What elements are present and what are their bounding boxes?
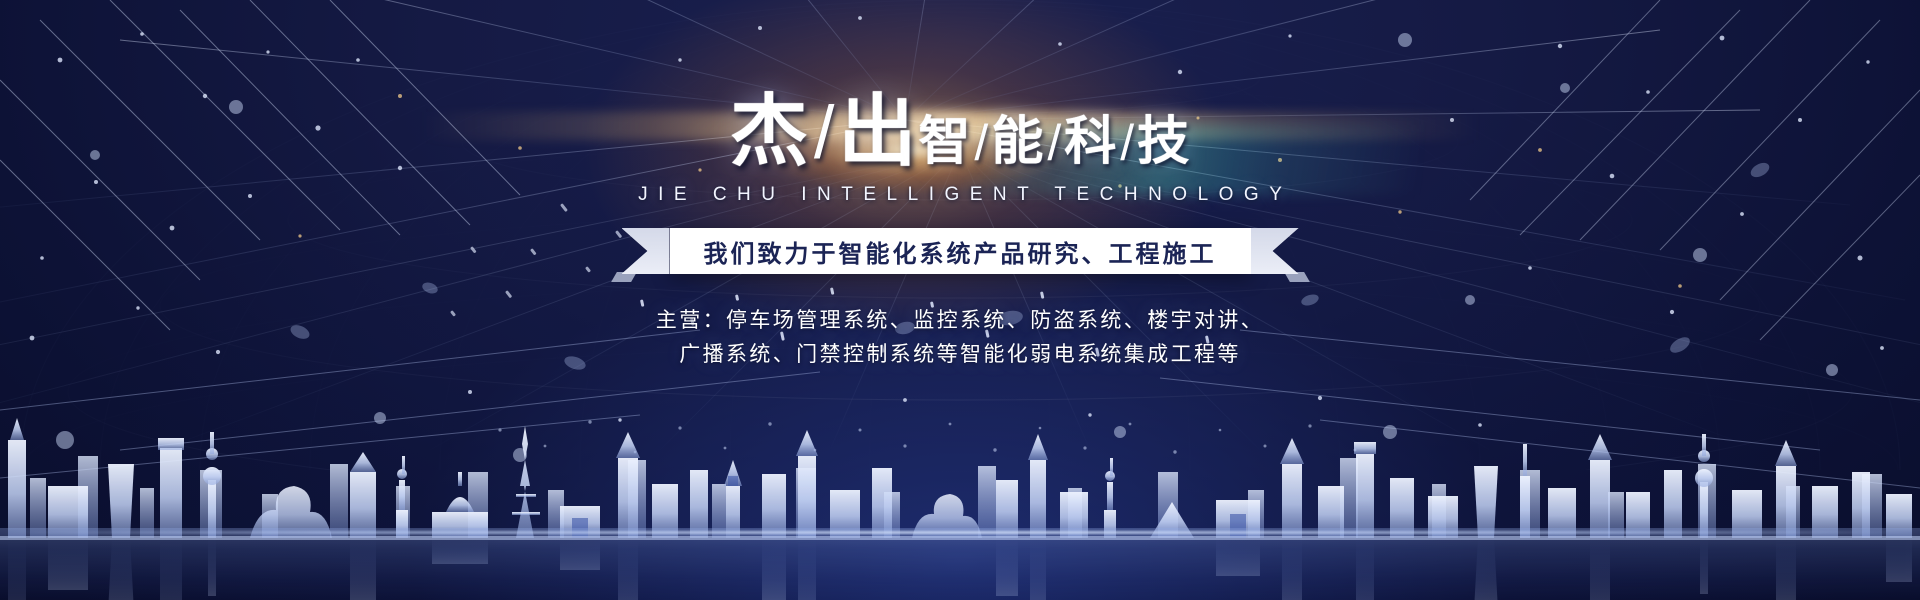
ribbon-tail-left	[622, 228, 670, 274]
title-slash-2: /	[974, 118, 988, 168]
hero-banner: 杰 / 出 智 / 能 / 科 / 技 JIE CHU INTELLIGENT …	[0, 0, 1920, 600]
slogan-ribbon: 我们致力于智能化系统产品研究、工程施工	[622, 228, 1299, 274]
description-line-1: 主营：停车场管理系统、监控系统、防盗系统、楼宇对讲、	[656, 304, 1264, 338]
title-char-jie: 杰	[730, 92, 810, 170]
title-char-ji: 技	[1137, 116, 1190, 168]
ribbon-text: 我们致力于智能化系统产品研究、工程施工	[704, 234, 1217, 269]
title-slash-1: /	[814, 96, 835, 170]
title-slash-4: /	[1120, 118, 1134, 168]
ribbon-tail-right	[1251, 228, 1299, 274]
title-char-chu: 出	[838, 92, 918, 170]
service-description: 主营：停车场管理系统、监控系统、防盗系统、楼宇对讲、 广播系统、门禁控制系统等智…	[656, 304, 1264, 372]
main-title: 杰 / 出 智 / 能 / 科 / 技	[730, 92, 1190, 170]
banner-content: 杰 / 出 智 / 能 / 科 / 技 JIE CHU INTELLIGENT …	[0, 0, 1920, 600]
english-subtitle: JIE CHU INTELLIGENT TECHNOLOGY	[628, 184, 1293, 206]
title-slash-3: /	[1047, 118, 1061, 168]
title-char-zhi: 智	[918, 116, 971, 168]
ribbon-body: 我们致力于智能化系统产品研究、工程施工	[670, 228, 1251, 274]
title-char-ke: 科	[1064, 116, 1117, 168]
description-line-2: 广播系统、门禁控制系统等智能化弱电系统集成工程等	[656, 338, 1264, 372]
title-char-neng: 能	[991, 116, 1044, 168]
